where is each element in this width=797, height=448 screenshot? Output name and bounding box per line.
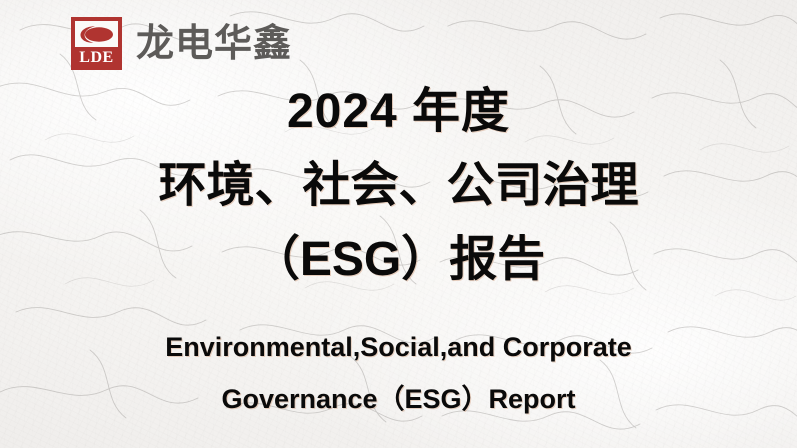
title-line-topic: 环境、社会、公司治理: [0, 162, 797, 210]
title-line-esg: （ESG）报告: [0, 236, 797, 284]
logo-mark-icon-panel: [75, 21, 118, 47]
lde-logo-mark: LDE: [71, 17, 122, 70]
logo-wordmark-text: LDE: [75, 47, 118, 70]
title-line-year: 2024 年度: [0, 88, 797, 136]
report-title-block: 2024 年度 环境、社会、公司治理 （ESG）报告: [0, 88, 797, 306]
subtitle-line-2: Governance（ESG）Report: [0, 386, 797, 413]
subtitle-line-1: Environmental,Social,and Corporate: [0, 334, 797, 361]
report-subtitle-block: Environmental,Social,and Corporate Gover…: [0, 334, 797, 413]
company-logo-lockup: LDE 龙电华鑫: [71, 17, 292, 70]
abstract-oval-swoosh-icon: [79, 24, 115, 44]
cover-slide: LDE 龙电华鑫 2024 年度 环境、社会、公司治理 （ESG）报告 Envi…: [0, 0, 797, 448]
company-name-chinese: 龙电华鑫: [136, 25, 292, 63]
